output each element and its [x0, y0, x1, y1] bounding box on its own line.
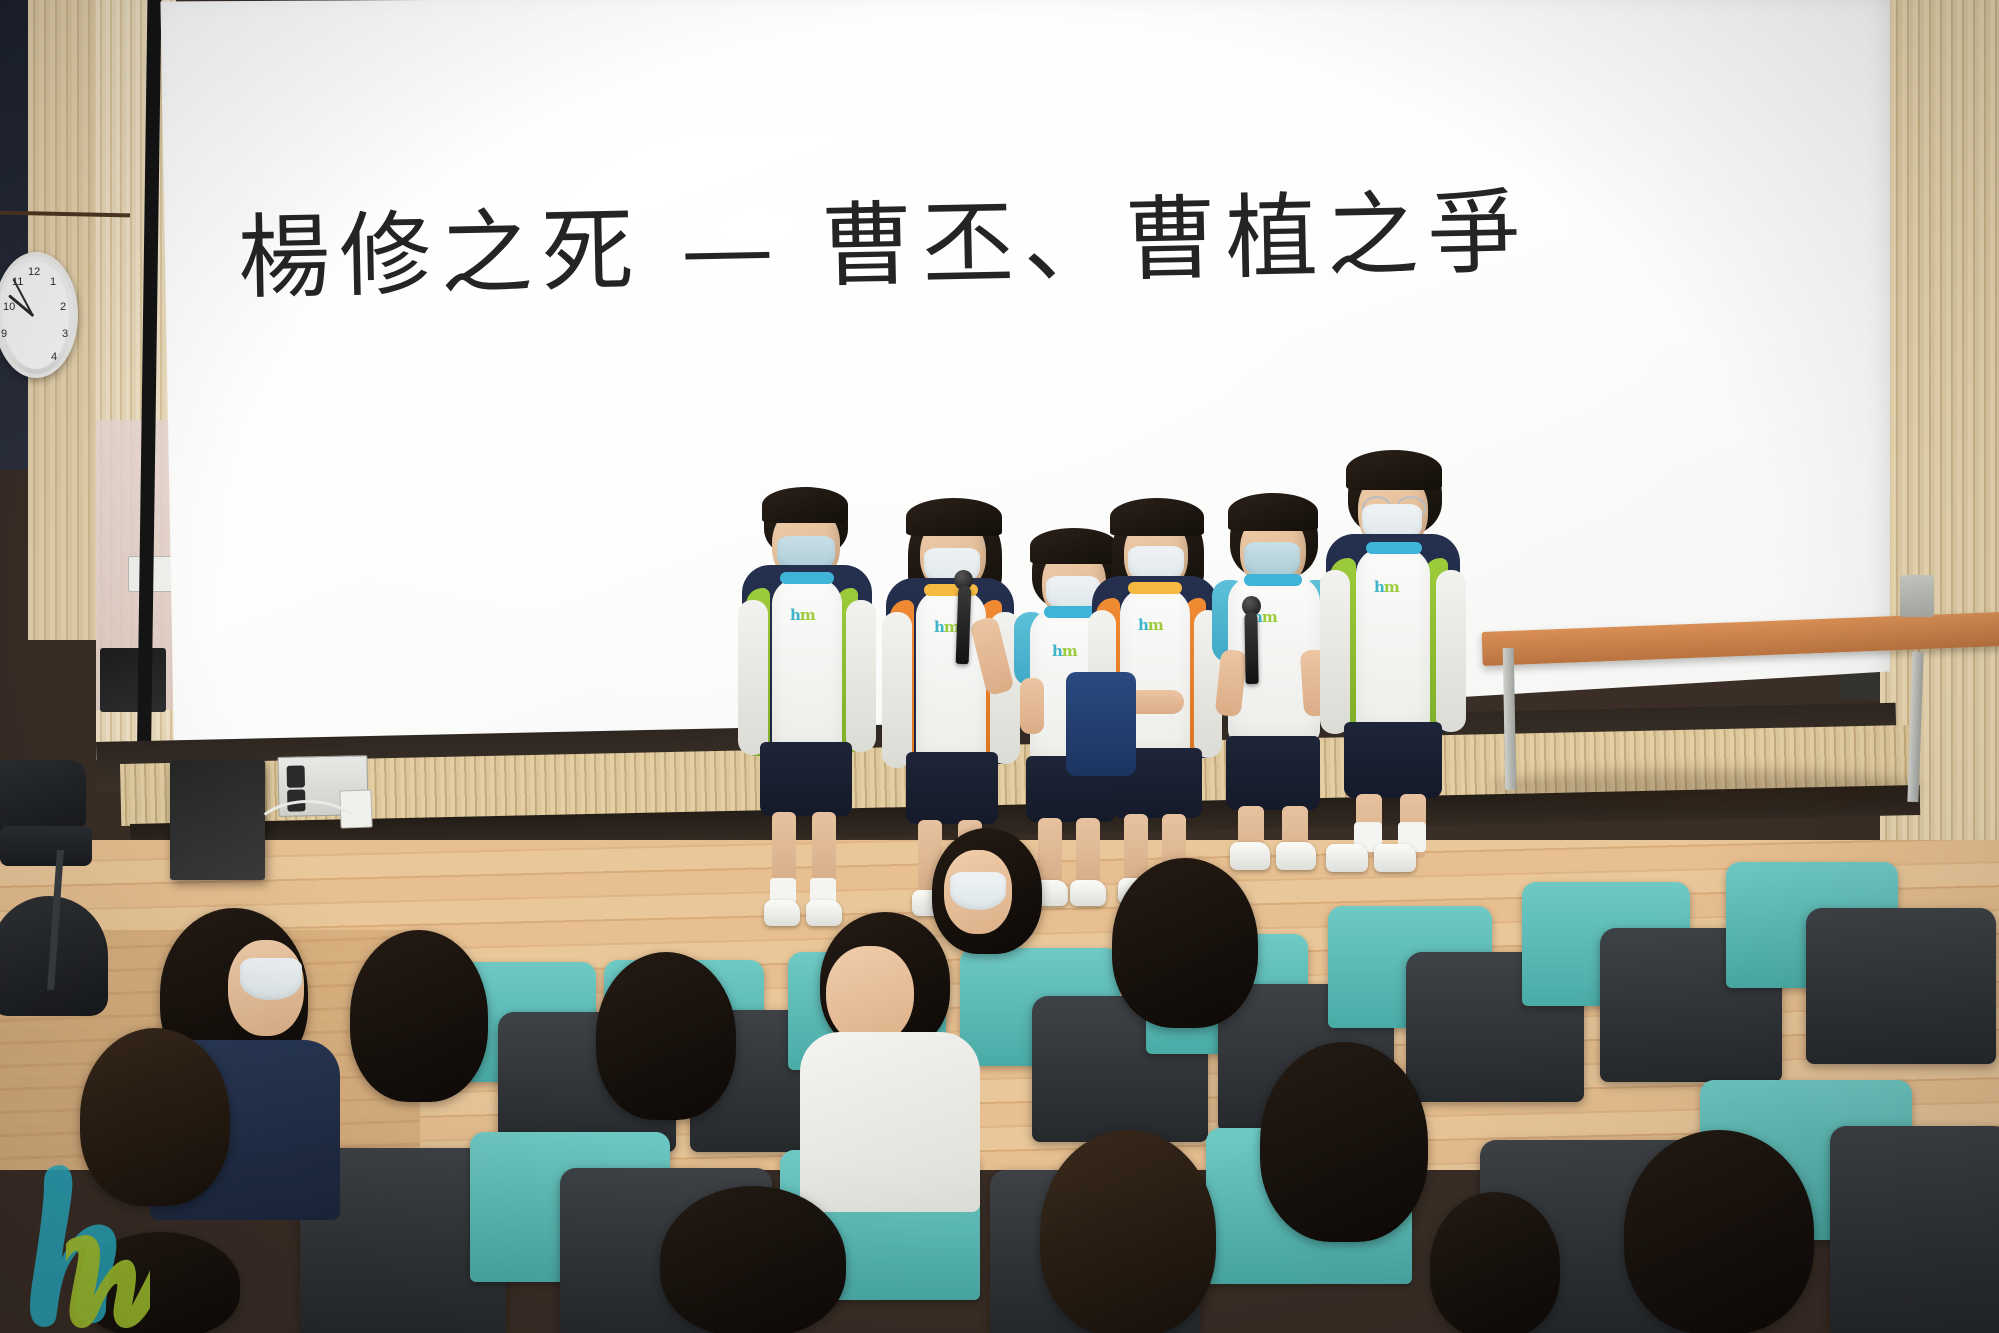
- clock-numeral-3: 3: [62, 328, 68, 340]
- presenter-1-jacket-sleeve-right: [846, 600, 876, 752]
- audience-head-8: [1260, 1042, 1428, 1242]
- presenter-5-microphone: [1244, 612, 1258, 684]
- presenter-1-shoe-right: [806, 900, 842, 926]
- audience-body-5: [800, 1032, 980, 1212]
- presenter-3-fringe: [1030, 528, 1118, 564]
- presenter-1-collar: [780, 572, 834, 584]
- presenter-6-hm-logo: hm: [1374, 578, 1399, 596]
- audience-head-12: [1430, 1192, 1560, 1333]
- desk-shadow: [1490, 770, 1920, 804]
- presenter-6-shoe-left: [1326, 844, 1368, 872]
- clock-numeral-9: 9: [1, 328, 7, 340]
- power-cable: [250, 800, 366, 876]
- audience-seat-back-8: [1806, 908, 1996, 1064]
- presenter-6-collar: [1366, 542, 1422, 554]
- floor-speaker: [170, 760, 265, 880]
- presenter-3-shoe-right: [1070, 880, 1106, 906]
- power-socket-1: [287, 765, 305, 787]
- presenter-5-shorts: [1226, 736, 1320, 810]
- audience-head-7: [1112, 858, 1258, 1028]
- audience-head-11: [660, 1186, 846, 1333]
- presenter-6-shorts: [1344, 722, 1442, 798]
- audience-head-10: [1624, 1130, 1814, 1333]
- auditorium-photo: 12 1 2 3 4 11 10 9 楊修之死 — 曹丕、曹植之爭: [0, 0, 1999, 1333]
- presenter-3-hm-logo: hm: [1052, 642, 1077, 660]
- presenter-6-sleeve-right: [1436, 570, 1466, 732]
- presenter-3-leg-right: [1076, 818, 1100, 884]
- presenter-4-hm-logo: hm: [1138, 616, 1163, 634]
- presenter-4-fringe: [1110, 498, 1204, 536]
- presenter-1-jacket-sleeve-left: [738, 600, 768, 755]
- clock-numeral-4: 4: [51, 351, 57, 363]
- presenter-1-leg-right: [812, 812, 836, 884]
- hm-watermark-logo: [18, 1158, 150, 1330]
- presenter-1-shirt: [772, 578, 842, 756]
- front-seat-back-5: [1830, 1126, 1999, 1333]
- wall-outlet-right: [1900, 575, 1934, 617]
- presenter-6-shoe-right: [1374, 844, 1416, 872]
- side-chair-back-1: [0, 760, 86, 834]
- wall-monitor: [100, 648, 166, 712]
- clock-numeral-12: 12: [28, 266, 40, 278]
- presenter-2-hm-logo: hm: [934, 618, 959, 636]
- audience-face-5: [826, 946, 914, 1046]
- presenter-2-shirt: [916, 590, 986, 766]
- presenter-1-shorts: [760, 742, 852, 816]
- presenter-5-fringe: [1228, 493, 1318, 531]
- audience-head-2: [350, 930, 488, 1102]
- side-chair-seat-1: [0, 826, 92, 866]
- presenter-1-hm-logo: hm: [790, 606, 815, 624]
- stage-chair: [1066, 672, 1136, 776]
- presenter-1-shoe-left: [764, 900, 800, 926]
- presenter-6-sleeve-left: [1320, 570, 1350, 734]
- audience-mask-6: [950, 872, 1006, 910]
- slide-title: 楊修之死 — 曹丕、曹植之爭: [237, 183, 1529, 308]
- presenter-6-fringe: [1346, 450, 1442, 490]
- presenter-4-collar: [1128, 582, 1182, 594]
- clock-numeral-1: 1: [50, 276, 56, 288]
- presenter-3-leg-left: [1038, 818, 1062, 884]
- presenter-2-fringe: [906, 498, 1002, 536]
- clock-numeral-10: 10: [3, 301, 15, 313]
- audience-mask-1: [240, 958, 302, 1000]
- presenter-5-shoe-right: [1276, 842, 1316, 870]
- presenter-1-fringe: [762, 487, 848, 523]
- presenter-3-arm-left: [1020, 678, 1044, 734]
- presenter-2-microphone: [956, 586, 972, 664]
- clock-numeral-2: 2: [60, 301, 66, 313]
- audience-head-9: [1040, 1130, 1216, 1333]
- presenter-2-shorts: [906, 752, 998, 824]
- presenter-6-shirt: [1356, 548, 1430, 736]
- presenter-5-shoe-left: [1230, 842, 1270, 870]
- audience-head-4: [596, 952, 736, 1120]
- presenter-2-sleeve-left: [882, 612, 912, 768]
- presenter-1-leg-left: [772, 812, 796, 884]
- presenter-5-collar: [1244, 574, 1302, 586]
